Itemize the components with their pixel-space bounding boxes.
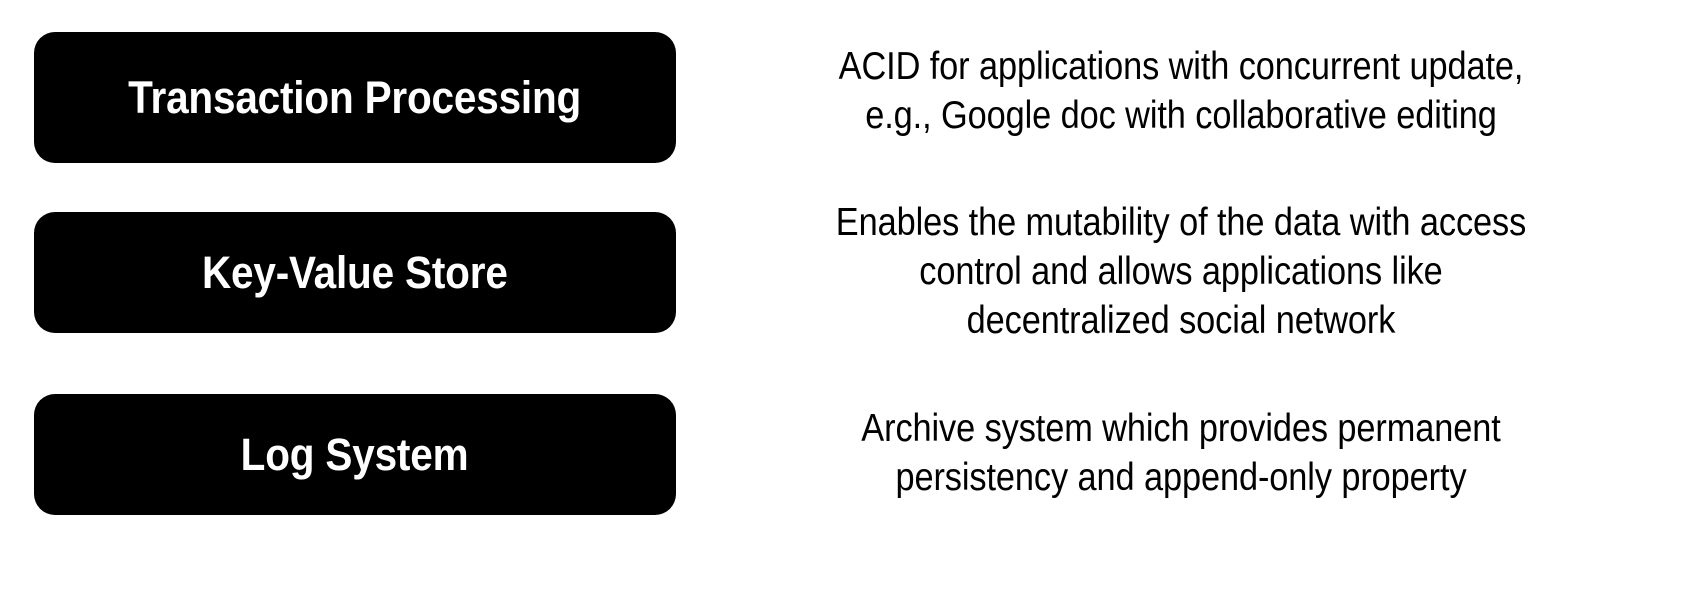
component-box-log-system[interactable]: Log System [34, 394, 676, 515]
component-box-label: Log System [241, 431, 469, 478]
component-box-label: Key-Value Store [202, 249, 508, 296]
component-description-key-value-store: Enables the mutability of the data with … [772, 198, 1590, 345]
component-box-transaction-processing[interactable]: Transaction Processing [34, 32, 676, 163]
component-description-transaction-processing: ACID for applications with concurrent up… [772, 42, 1590, 140]
slide-canvas: Transaction Processing ACID for applicat… [0, 0, 1704, 594]
description-line: control and allows applications like [772, 247, 1590, 296]
description-line: persistency and append-only property [772, 453, 1590, 502]
component-box-key-value-store[interactable]: Key-Value Store [34, 212, 676, 333]
description-line: e.g., Google doc with collaborative edit… [772, 91, 1590, 140]
component-box-label: Transaction Processing [129, 74, 582, 121]
description-line: Archive system which provides permanent [772, 404, 1590, 453]
description-line: Enables the mutability of the data with … [772, 198, 1590, 247]
description-line: decentralized social network [772, 296, 1590, 345]
component-description-log-system: Archive system which provides permanent … [772, 404, 1590, 502]
description-line: ACID for applications with concurrent up… [772, 42, 1590, 91]
